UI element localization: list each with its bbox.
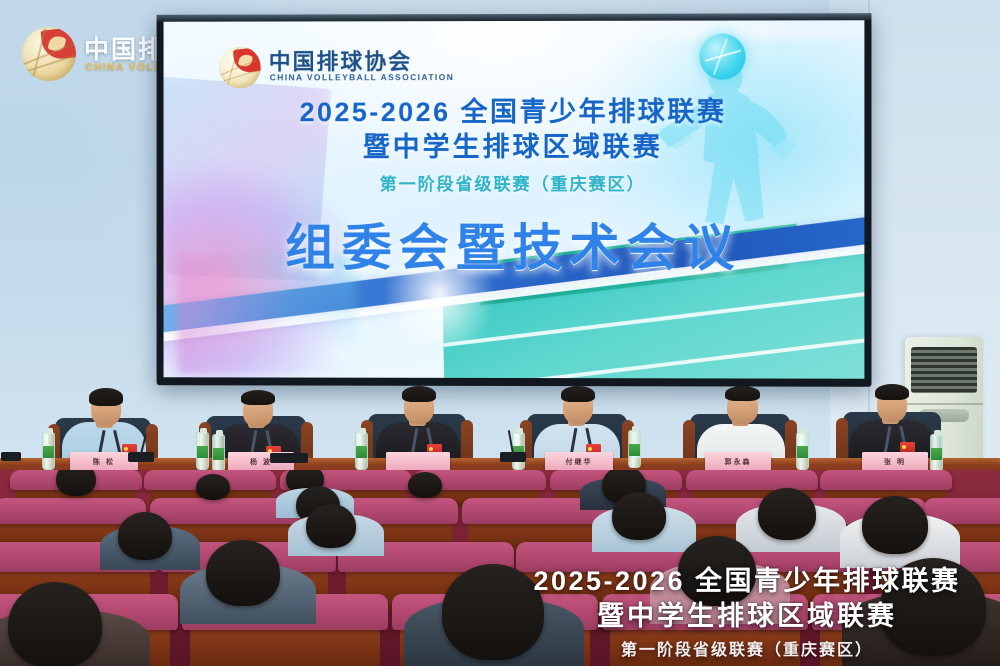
audience-head <box>612 492 666 540</box>
screen-title-line2: 暨中学生排球区域联赛 <box>164 129 865 165</box>
water-bottle <box>355 432 368 470</box>
audience-head <box>118 512 172 560</box>
conference-photo: 中国排球 CHINA VOLLEYBALL A <box>0 0 1000 666</box>
hair <box>241 390 275 405</box>
water-bottle <box>512 432 525 470</box>
screen-title-line1: 2025-2026 全国青少年排球联赛 <box>164 96 865 130</box>
screen-volleyball-graphic <box>699 34 745 80</box>
screen-cva-logo: 中国排球协会 CHINA VOLLEYBALL ASSOCIATION <box>219 42 448 96</box>
hair <box>725 386 760 401</box>
hair <box>402 386 436 402</box>
screen-surface: 中国排球协会 CHINA VOLLEYBALL ASSOCIATION 2025… <box>164 19 865 379</box>
audience-head <box>196 474 230 500</box>
name-placard: 付继华 <box>545 452 613 471</box>
hair <box>561 386 595 402</box>
ac-vent-grille <box>911 347 977 393</box>
screen-logo-en: CHINA VOLLEYBALL ASSOCIATION <box>270 72 454 82</box>
auditorium-seat[interactable] <box>820 470 952 490</box>
ac-seam <box>905 403 983 405</box>
audience-head <box>442 564 544 660</box>
hair <box>89 388 123 406</box>
screen-title-block: 2025-2026 全国青少年排球联赛 暨中学生排球区域联赛 第一阶段省级联赛（… <box>164 96 865 195</box>
audience-head <box>8 582 102 666</box>
audience-head <box>206 540 280 606</box>
water-bottle <box>42 432 55 470</box>
screen-main-heading: 组委会暨技术会议 <box>164 208 865 280</box>
name-placard: 张 明 <box>862 452 928 471</box>
audience-seating-area <box>0 470 1000 666</box>
audience-head <box>408 472 442 498</box>
audience-head <box>56 470 96 496</box>
microphone-base <box>270 453 308 463</box>
microphone-base <box>1 452 21 461</box>
audience-head <box>678 536 756 606</box>
audience-head <box>758 488 816 540</box>
hair <box>875 384 909 400</box>
water-bottle <box>212 434 225 472</box>
volleyball-icon <box>22 27 76 81</box>
led-display-screen: 中国排球协会 CHINA VOLLEYBALL ASSOCIATION 2025… <box>157 13 872 387</box>
audience-head <box>862 496 928 554</box>
name-placard: 郭永森 <box>705 452 771 471</box>
audience-head <box>880 558 986 656</box>
screen-title-line3: 第一阶段省级联赛（重庆赛区） <box>164 170 865 195</box>
screen-volleyball-icon <box>219 46 261 88</box>
audience-head <box>306 504 356 548</box>
water-bottle <box>930 434 943 472</box>
water-bottle <box>796 432 809 470</box>
water-bottle <box>628 430 641 468</box>
auditorium-seat[interactable] <box>686 470 818 490</box>
name-placard <box>386 452 450 471</box>
water-bottle <box>196 432 209 470</box>
